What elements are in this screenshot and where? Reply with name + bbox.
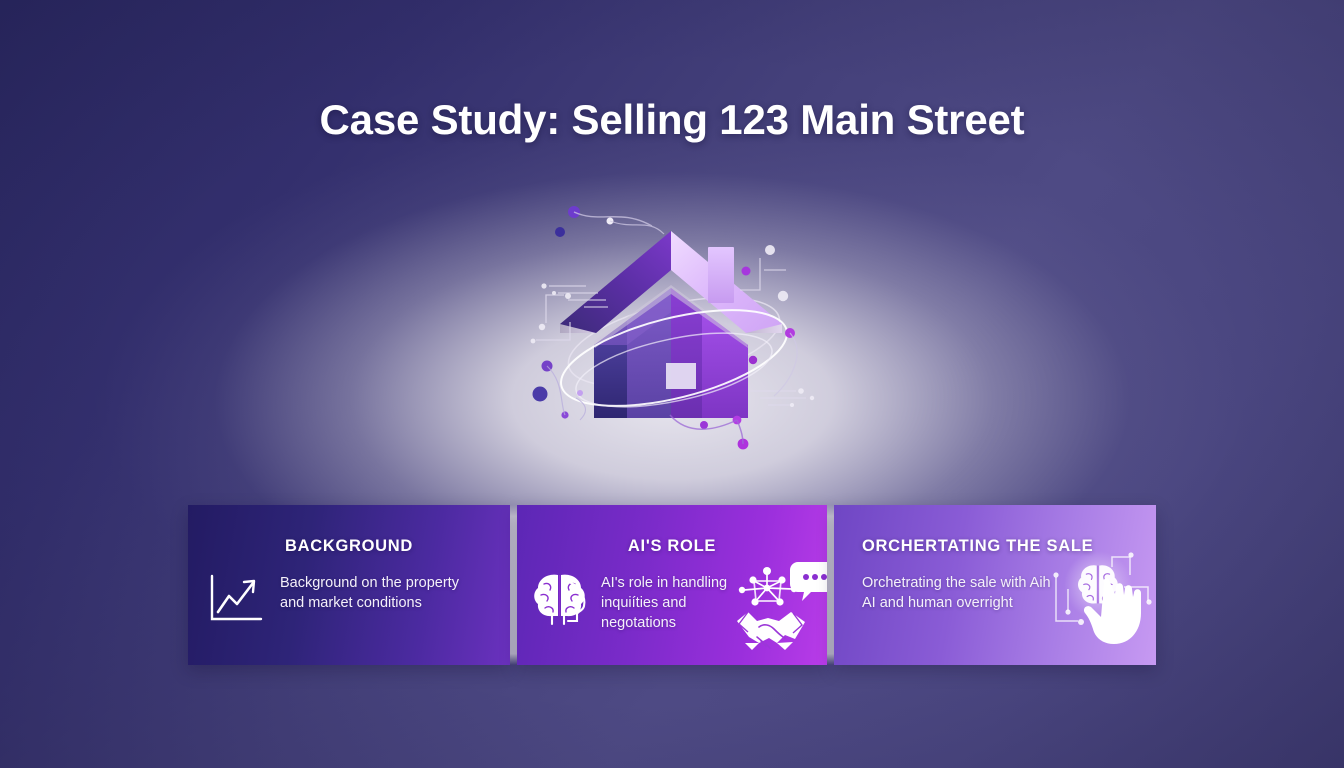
card-body-orchestrating: Orchetrating the sale with Aih AI and hu… — [862, 573, 1052, 613]
card-heading-background: BACKGROUND — [188, 537, 510, 556]
card-background[interactable]: BACKGROUND Background on the property an… — [188, 505, 510, 665]
brain-profile-icon — [530, 567, 594, 629]
card-ais-role[interactable]: AI'S ROLE — [517, 505, 827, 665]
page-title: Case Study: Selling 123 Main Street — [0, 96, 1344, 144]
hand-pointing-brain-icon — [1052, 549, 1156, 659]
ai-real-estate-house-illustration — [524, 200, 824, 475]
case-study-card-row: BACKGROUND Background on the property an… — [188, 505, 1156, 665]
card-body-ais-role: AI's role in handling inquiíties and neg… — [601, 573, 741, 633]
card-orchestrating-the-sale[interactable]: ORCHERTATING THE SALE Orchetrating the s… — [834, 505, 1156, 665]
slide-canvas: Case Study: Selling 123 Main Street — [0, 0, 1344, 768]
growth-chart-icon — [208, 573, 264, 625]
card-heading-ais-role: AI'S ROLE — [517, 537, 827, 556]
card-divider-1 — [510, 505, 517, 665]
card-divider-2 — [827, 505, 834, 665]
card-body-background: Background on the property and market co… — [280, 573, 480, 613]
